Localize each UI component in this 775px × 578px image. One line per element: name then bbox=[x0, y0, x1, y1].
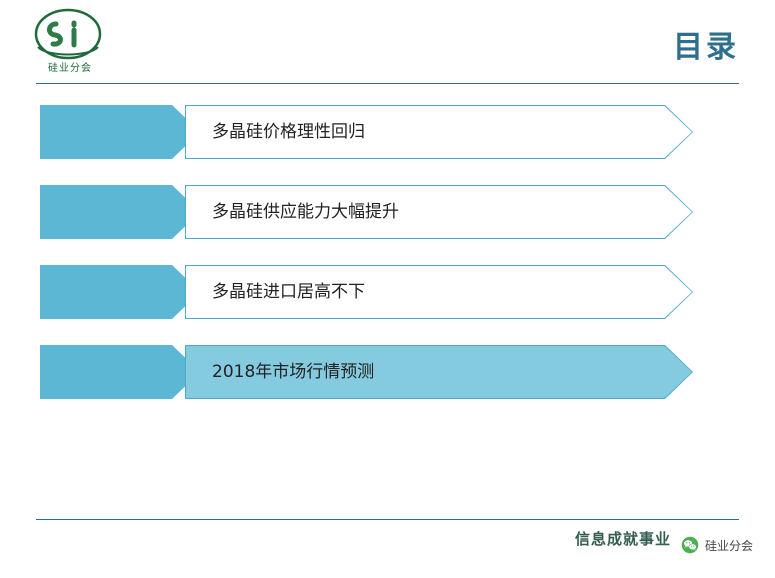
chevron-left-block-3 bbox=[40, 265, 200, 319]
agenda-list: 多晶硅价格理性回归 多晶硅供应能力大幅提升 多晶硅进口居高不下 2018年市场行… bbox=[40, 105, 700, 425]
agenda-item-1[interactable]: 多晶硅价格理性回归 bbox=[40, 105, 700, 159]
page-title: 目录 bbox=[673, 22, 739, 66]
agenda-item-label-1: 多晶硅价格理性回归 bbox=[212, 105, 365, 159]
chevron-left-block-1 bbox=[40, 105, 200, 159]
agenda-item-2[interactable]: 多晶硅供应能力大幅提升 bbox=[40, 185, 700, 239]
agenda-item-4[interactable]: 2018年市场行情预测 bbox=[40, 345, 700, 399]
slide-header: 硅业分会 目录 bbox=[0, 0, 775, 84]
wechat-label: 硅业分会 bbox=[705, 537, 753, 554]
chevron-left-block-2 bbox=[40, 185, 200, 239]
agenda-item-label-4: 2018年市场行情预测 bbox=[212, 345, 374, 399]
agenda-item-3[interactable]: 多晶硅进口居高不下 bbox=[40, 265, 700, 319]
agenda-item-label-3: 多晶硅进口居高不下 bbox=[212, 265, 365, 319]
wechat-icon bbox=[681, 536, 699, 554]
logo-caption: 硅业分会 bbox=[32, 59, 108, 74]
chevron-left-block-4 bbox=[40, 345, 200, 399]
wechat-badge: 硅业分会 bbox=[681, 536, 753, 554]
footer-divider bbox=[36, 519, 739, 520]
footer-slogan: 信息成就事业 bbox=[575, 528, 671, 549]
slide: 硅业分会 目录 多晶硅价格理性回归 多晶硅供应能力大幅提升 多晶硅进口居高不下 bbox=[0, 0, 775, 578]
agenda-item-label-2: 多晶硅供应能力大幅提升 bbox=[212, 185, 399, 239]
header-divider bbox=[36, 83, 739, 84]
organization-logo: 硅业分会 bbox=[22, 7, 114, 77]
